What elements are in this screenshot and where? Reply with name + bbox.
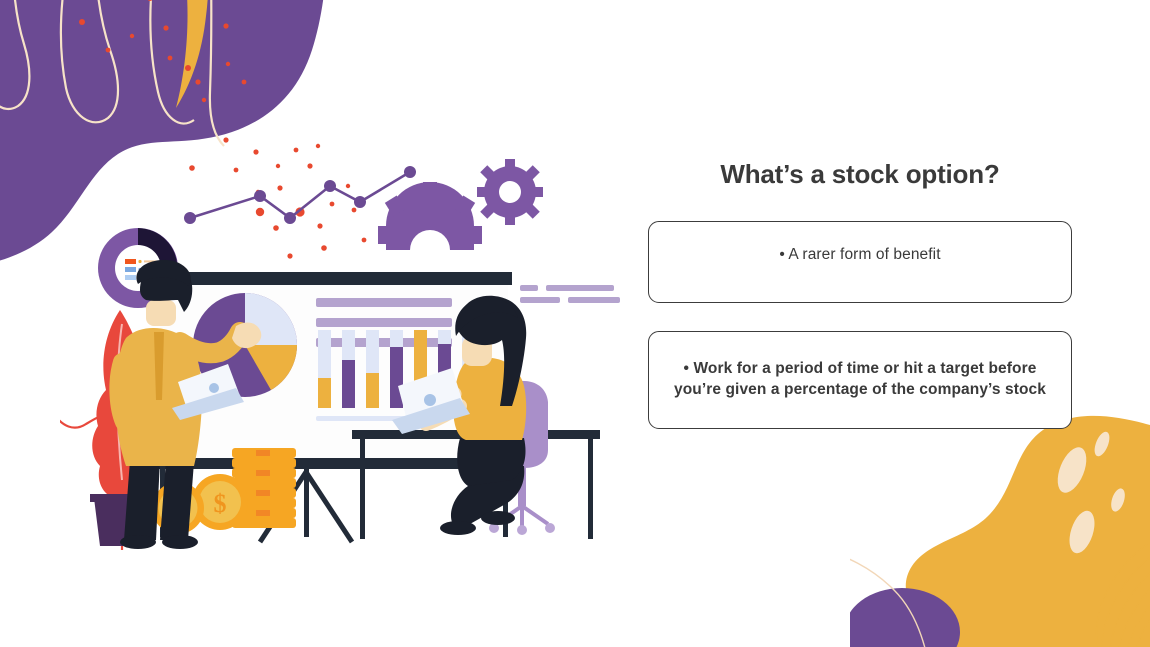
board-text-lines — [316, 298, 452, 347]
decoration-bottom-right — [850, 392, 1150, 647]
gear-icon — [378, 159, 543, 250]
callout-box-1[interactable]: • A rarer form of benefit — [648, 221, 1072, 303]
callout-1-text: • A rarer form of benefit — [763, 245, 956, 266]
content-column: What’s a stock option? • A rarer form of… — [648, 160, 1072, 429]
business-analytics-illustration: $ $ — [60, 150, 620, 555]
page-title: What’s a stock option? — [648, 160, 1072, 189]
line-chart-graphic — [184, 166, 416, 224]
svg-text:$: $ — [214, 489, 227, 518]
side-text-lines — [520, 285, 620, 303]
callout-2-text: • Work for a period of time or hit a tar… — [649, 359, 1071, 401]
callout-box-2[interactable]: • Work for a period of time or hit a tar… — [648, 331, 1072, 429]
slide-canvas: $ $ — [0, 0, 1150, 647]
